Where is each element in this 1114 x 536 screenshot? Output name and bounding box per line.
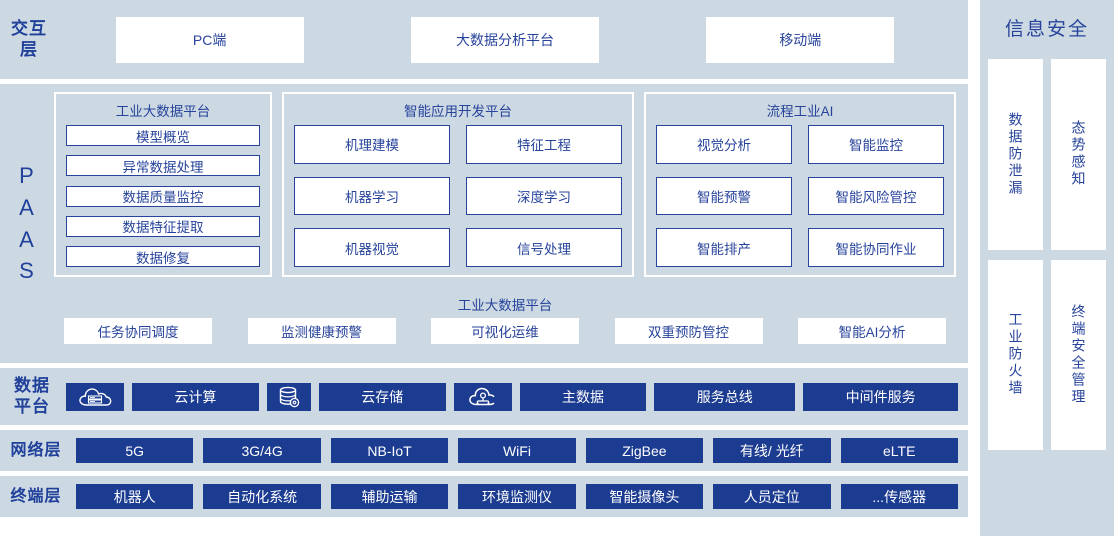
- interaction-item-mobile[interactable]: 移动端: [706, 17, 894, 63]
- paas-item-mechanism-modeling[interactable]: 机理建模: [294, 125, 450, 164]
- cloud-server-icon-button[interactable]: [66, 383, 124, 411]
- data-platform-items: 云计算: [58, 383, 958, 411]
- network-item-zigbee[interactable]: ZigBee: [586, 438, 703, 463]
- paas-item-intelligent-risk-control[interactable]: 智能风险管控: [808, 177, 944, 216]
- paas-item-machine-learning[interactable]: 机器学习: [294, 177, 450, 216]
- paas-item-intelligent-monitoring[interactable]: 智能监控: [808, 125, 944, 164]
- paas-item-data-repair[interactable]: 数据修复: [66, 246, 260, 267]
- terminal-item-sensors[interactable]: ...传感器: [841, 484, 958, 509]
- main-layer-column: 交互层 PC端 大数据分析平台 移动端 P A A S 工业大数据平台: [0, 0, 968, 536]
- network-item-wifi[interactable]: WiFi: [458, 438, 575, 463]
- bigdata-item-health-warning[interactable]: 监测健康预警: [248, 318, 396, 344]
- paas-item-signal-processing[interactable]: 信号处理: [466, 228, 622, 267]
- panel-process-industry-ai: 流程工业AI 视觉分析 智能监控 智能预警 智能风险管控 智能排产 智能协同作业: [644, 92, 956, 277]
- network-item-elte[interactable]: eLTE: [841, 438, 958, 463]
- terminal-layer-band: 终端层 机器人 自动化系统 辅助运输 环境监测仪 智能摄像头 人员定位 ...传…: [0, 476, 968, 517]
- cloud-server-icon: [77, 386, 113, 408]
- network-layer-band: 网络层 5G 3G/4G NB-IoT WiFi ZigBee 有线/ 光纤 e…: [0, 430, 968, 471]
- terminal-item-personnel-positioning[interactable]: 人员定位: [713, 484, 830, 509]
- data-platform-layer-band: 数据平台 云计算: [0, 368, 968, 425]
- paas-item-intelligent-warning[interactable]: 智能预警: [656, 177, 792, 216]
- security-item-data-leak-prevention[interactable]: 数据防泄漏: [988, 59, 1043, 250]
- panel-title: 工业大数据平台: [66, 100, 260, 120]
- security-item-situational-awareness[interactable]: 态势感知: [1051, 59, 1106, 250]
- paas-letter-s: S: [19, 255, 35, 287]
- security-item-industrial-firewall[interactable]: 工业防火墙: [988, 260, 1043, 451]
- paas-item-feature-engineering[interactable]: 特征工程: [466, 125, 622, 164]
- terminal-item-automation-system[interactable]: 自动化系统: [203, 484, 320, 509]
- paas-item-intelligent-collaboration[interactable]: 智能协同作业: [808, 228, 944, 267]
- paas-layer-label: P A A S: [4, 92, 50, 355]
- data-platform-item-cloud-computing[interactable]: 云计算: [132, 383, 259, 411]
- paas-item-visual-analysis[interactable]: 视觉分析: [656, 125, 792, 164]
- data-platform-item-service-bus[interactable]: 服务总线: [654, 383, 795, 411]
- bigdata-subrow: 工业大数据平台 任务协同调度 监测健康预警 可视化运维 双重预防管控 智能AI分…: [54, 283, 956, 355]
- paas-item-anomaly-data[interactable]: 异常数据处理: [66, 155, 260, 176]
- paas-item-machine-vision[interactable]: 机器视觉: [294, 228, 450, 267]
- information-security-column: 信息安全 数据防泄漏 态势感知 工业防火墙 终端安全管理: [980, 0, 1114, 536]
- database-gear-icon: [277, 385, 301, 409]
- bigdata-item-dual-prevention[interactable]: 双重预防管控: [615, 318, 763, 344]
- paas-letter-p: P: [19, 160, 35, 192]
- paas-letter-a1: A: [19, 192, 35, 224]
- data-platform-layer-label: 数据平台: [6, 376, 58, 417]
- network-item-3g4g[interactable]: 3G/4G: [203, 438, 320, 463]
- panel-items: 视觉分析 智能监控 智能预警 智能风险管控 智能排产 智能协同作业: [656, 125, 944, 267]
- paas-panels: 工业大数据平台 模型概览 异常数据处理 数据质量监控 数据特征提取 数据修复 智…: [54, 92, 956, 277]
- terminal-layer-label: 终端层: [6, 487, 66, 507]
- network-item-nbiot[interactable]: NB-IoT: [331, 438, 448, 463]
- paas-item-deep-learning[interactable]: 深度学习: [466, 177, 622, 216]
- paas-body: 工业大数据平台 模型概览 异常数据处理 数据质量监控 数据特征提取 数据修复 智…: [50, 92, 956, 355]
- interaction-item-bigdata-platform[interactable]: 大数据分析平台: [411, 17, 599, 63]
- terminal-item-auxiliary-transport[interactable]: 辅助运输: [331, 484, 448, 509]
- panel-intelligent-app-dev-platform: 智能应用开发平台 机理建模 特征工程 机器学习 深度学习 机器视觉 信号处理: [282, 92, 634, 277]
- bigdata-item-ai-analysis[interactable]: 智能AI分析: [798, 318, 946, 344]
- cloud-network-icon: [466, 385, 500, 409]
- paas-item-feature-extract[interactable]: 数据特征提取: [66, 216, 260, 237]
- paas-item-data-quality[interactable]: 数据质量监控: [66, 186, 260, 207]
- security-item-terminal-security-management[interactable]: 终端安全管理: [1051, 260, 1106, 451]
- panel-industrial-bigdata-platform: 工业大数据平台 模型概览 异常数据处理 数据质量监控 数据特征提取 数据修复: [54, 92, 272, 277]
- cloud-network-icon-button[interactable]: [454, 383, 512, 411]
- network-layer-label: 网络层: [6, 441, 66, 461]
- panel-title: 流程工业AI: [656, 100, 944, 120]
- panel-items: 模型概览 异常数据处理 数据质量监控 数据特征提取 数据修复: [66, 125, 260, 267]
- network-layer-items: 5G 3G/4G NB-IoT WiFi ZigBee 有线/ 光纤 eLTE: [66, 438, 958, 463]
- terminal-layer-items: 机器人 自动化系统 辅助运输 环境监测仪 智能摄像头 人员定位 ...传感器: [66, 484, 958, 509]
- network-item-5g[interactable]: 5G: [76, 438, 193, 463]
- bigdata-subrow-items: 任务协同调度 监测健康预警 可视化运维 双重预防管控 智能AI分析: [54, 318, 956, 344]
- terminal-item-robot[interactable]: 机器人: [76, 484, 193, 509]
- architecture-diagram: 交互层 PC端 大数据分析平台 移动端 P A A S 工业大数据平台: [0, 0, 1114, 536]
- information-security-title: 信息安全: [1005, 14, 1089, 41]
- database-gear-icon-button[interactable]: [267, 383, 311, 411]
- data-platform-item-master-data[interactable]: 主数据: [520, 383, 647, 411]
- panel-items: 机理建模 特征工程 机器学习 深度学习 机器视觉 信号处理: [294, 125, 622, 267]
- bigdata-item-task-scheduling[interactable]: 任务协同调度: [64, 318, 212, 344]
- interaction-layer-items: PC端 大数据分析平台 移动端: [52, 0, 958, 79]
- paas-letter-a2: A: [19, 224, 35, 256]
- terminal-item-smart-camera[interactable]: 智能摄像头: [586, 484, 703, 509]
- panel-title: 智能应用开发平台: [294, 100, 622, 120]
- data-platform-item-middleware[interactable]: 中间件服务: [803, 383, 958, 411]
- terminal-item-environment-monitor[interactable]: 环境监测仪: [458, 484, 575, 509]
- bigdata-item-visual-ops[interactable]: 可视化运维: [431, 318, 579, 344]
- data-platform-item-cloud-storage[interactable]: 云存储: [319, 383, 446, 411]
- information-security-items: 数据防泄漏 态势感知 工业防火墙 终端安全管理: [988, 59, 1106, 450]
- interaction-item-pc[interactable]: PC端: [116, 17, 304, 63]
- interaction-layer-label: 交互层: [6, 19, 52, 60]
- interaction-layer-band: 交互层 PC端 大数据分析平台 移动端: [0, 0, 968, 79]
- paas-layer-band: P A A S 工业大数据平台 模型概览 异常数据处理 数据质量监控 数据特征提…: [0, 84, 968, 363]
- network-item-wired-fiber[interactable]: 有线/ 光纤: [713, 438, 830, 463]
- paas-item-intelligent-scheduling[interactable]: 智能排产: [656, 228, 792, 267]
- bigdata-subrow-title: 工业大数据平台: [54, 294, 956, 314]
- paas-item-model-overview[interactable]: 模型概览: [66, 125, 260, 146]
